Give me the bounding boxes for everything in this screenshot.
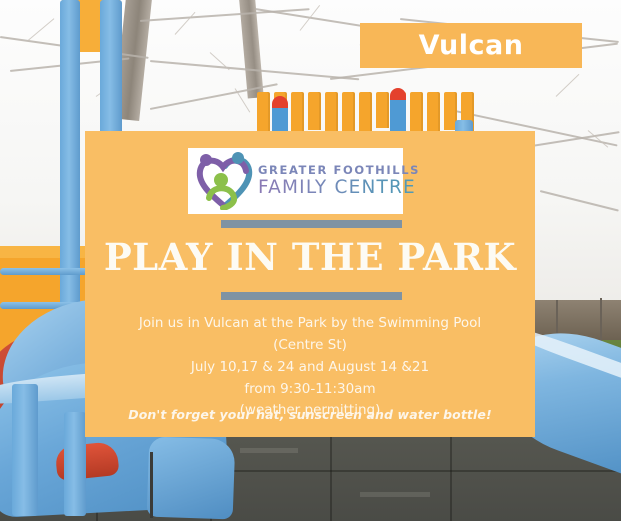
event-detail-line: Join us in Vulcan at the Park by the Swi… bbox=[85, 313, 535, 335]
divider-below-title bbox=[221, 292, 402, 300]
event-details-block: Join us in Vulcan at the Park by the Swi… bbox=[85, 313, 535, 422]
event-tagline: Don't forget your hat, sunscreen and wat… bbox=[85, 407, 535, 422]
red-post-cap-icon bbox=[272, 96, 288, 108]
blue-slide-leg bbox=[64, 412, 86, 516]
red-post-cap-icon bbox=[390, 88, 406, 100]
logo-line-2: FAMILY CENTRE bbox=[258, 179, 420, 198]
pavement-seam bbox=[450, 430, 452, 521]
pavement-highlight bbox=[360, 492, 430, 497]
logo-wordmark: GREATER FOOTHILLS FAMILY CENTRE bbox=[258, 165, 420, 197]
organization-logo: GREATER FOOTHILLS FAMILY CENTRE bbox=[188, 148, 403, 214]
logo-line-1: GREATER FOOTHILLS bbox=[258, 165, 420, 177]
poster-image: Vulcan bbox=[0, 0, 621, 521]
vulcan-banner-label: Vulcan bbox=[419, 30, 524, 61]
event-detail-line: from 9:30-11:30am bbox=[85, 379, 535, 401]
event-poster-card: GREATER FOOTHILLS FAMILY CENTRE PLAY IN … bbox=[85, 131, 535, 437]
event-detail-line: July 10,17 & 24 and August 14 &21 bbox=[85, 357, 535, 379]
vulcan-location-banner: Vulcan bbox=[360, 23, 582, 68]
blue-slide-left-foot bbox=[147, 437, 236, 520]
blue-slide-leg bbox=[12, 384, 38, 516]
divider-above-title bbox=[221, 220, 402, 228]
page-title: PLAY IN THE PARK bbox=[85, 239, 535, 276]
pavement-highlight bbox=[240, 448, 298, 453]
heart-family-logo-icon bbox=[192, 152, 254, 210]
event-detail-line: (Centre St) bbox=[85, 335, 535, 357]
slide-metal-leg bbox=[150, 452, 153, 518]
